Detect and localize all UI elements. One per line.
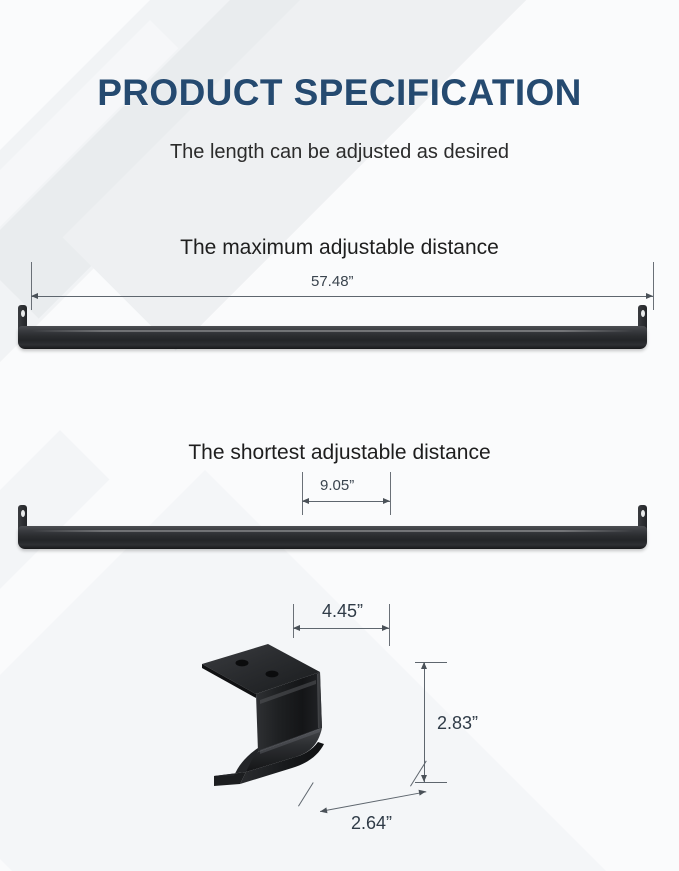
clamp-inner-left-min	[272, 544, 302, 588]
clamp-outer-left	[50, 344, 80, 388]
page-subtitle: The length can be adjusted as desired	[0, 141, 679, 164]
bg-band-6	[0, 430, 109, 871]
bracket-hole-1	[236, 660, 249, 667]
bracket-hole-2	[266, 671, 279, 678]
page-title: PRODUCT SPECIFICATION	[0, 72, 679, 114]
dim-arrow-max-right	[646, 293, 653, 299]
clamp-outer-left-min	[50, 544, 80, 588]
dim-label-bracket-width: 4.45”	[322, 601, 363, 622]
dim-line-width	[293, 628, 389, 629]
clamp-inner-right-min	[382, 544, 412, 588]
dim-label-max: 57.48”	[311, 273, 354, 290]
bracket-illustration	[200, 630, 500, 830]
clamp-outer-right-min	[598, 544, 628, 588]
crossbar	[18, 326, 647, 349]
clamp-inner-left	[272, 344, 302, 388]
clamp-inner-right	[382, 344, 412, 388]
crossbar-min	[18, 526, 647, 549]
dim-line-max	[31, 296, 653, 297]
rack-assembly-max	[0, 300, 679, 400]
rack-assembly-min	[0, 500, 679, 600]
bg-band-3	[63, 0, 679, 351]
dim-label-min: 9.05”	[320, 477, 354, 494]
caption-min-distance: The shortest adjustable distance	[0, 441, 679, 465]
caption-max-distance: The maximum adjustable distance	[0, 236, 679, 260]
dim-arrow-max-left	[31, 293, 38, 299]
product-specification-page: PRODUCT SPECIFICATION The length can be …	[0, 0, 679, 871]
clamp-outer-right	[598, 344, 628, 388]
